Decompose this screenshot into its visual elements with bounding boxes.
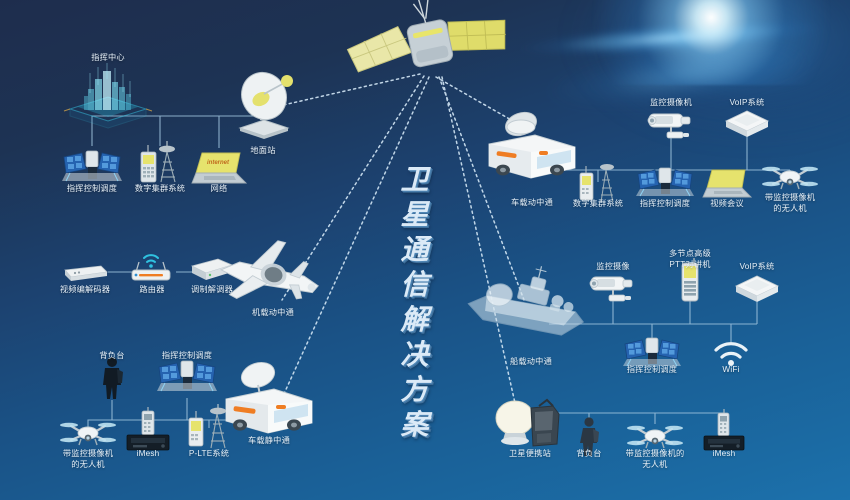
- trunking-system-icon-2: [573, 160, 623, 204]
- drone-icon-2: [759, 159, 821, 193]
- video-conference-icon: [701, 167, 753, 201]
- drone-icon-1: [57, 415, 119, 449]
- svg-text:internet: internet: [207, 160, 230, 166]
- satellite-icon: [337, 2, 527, 94]
- title-char-2: 通: [400, 233, 429, 267]
- video-codec-icon: [61, 262, 109, 282]
- title-char-5: 决: [400, 338, 429, 372]
- command-console-icon-3: [634, 164, 696, 200]
- portable-satellite-station-icon: [491, 400, 567, 456]
- shipborne-vessel-icon: [463, 264, 591, 352]
- cctv-camera-icon-2: [585, 271, 641, 305]
- wifi-icon: [711, 340, 751, 368]
- airborne-plane-icon: [208, 229, 326, 315]
- ptt-radio-icon: [676, 259, 704, 305]
- vehicle-static-icon: [216, 361, 322, 439]
- vehicle-mobile-icon: [481, 110, 583, 186]
- drone-icon-3: [624, 418, 686, 452]
- title-char-4: 解: [400, 303, 429, 337]
- voip-system-icon-2: [730, 272, 784, 304]
- router-icon: [126, 246, 178, 286]
- backpack-operator-icon-2: [573, 416, 605, 458]
- title-char-1: 星: [400, 198, 429, 232]
- command-center-icon: [62, 59, 154, 133]
- title-char-6: 方: [400, 373, 429, 407]
- command-console-icon-2: [155, 357, 219, 395]
- command-console-icon-1: [60, 147, 124, 185]
- command-console-icon-4: [621, 334, 683, 370]
- diagram-canvas: 指挥中心 地面站: [0, 0, 850, 500]
- network-laptop-icon: internet: [190, 149, 248, 187]
- page-title: 卫 星 通 信 解 决 方 案: [400, 163, 429, 442]
- ground-station-icon: [220, 68, 306, 140]
- title-char-3: 信: [400, 268, 429, 302]
- title-char-7: 案: [400, 408, 429, 442]
- imesh-icon-2: [700, 411, 748, 453]
- voip-system-icon-1: [720, 107, 774, 139]
- backpack-operator-icon-1: [95, 355, 129, 401]
- cctv-camera-icon-1: [643, 108, 699, 142]
- title-char-0: 卫: [400, 163, 429, 197]
- imesh-icon-1: [123, 409, 173, 453]
- trunking-system-icon-1: [133, 140, 187, 186]
